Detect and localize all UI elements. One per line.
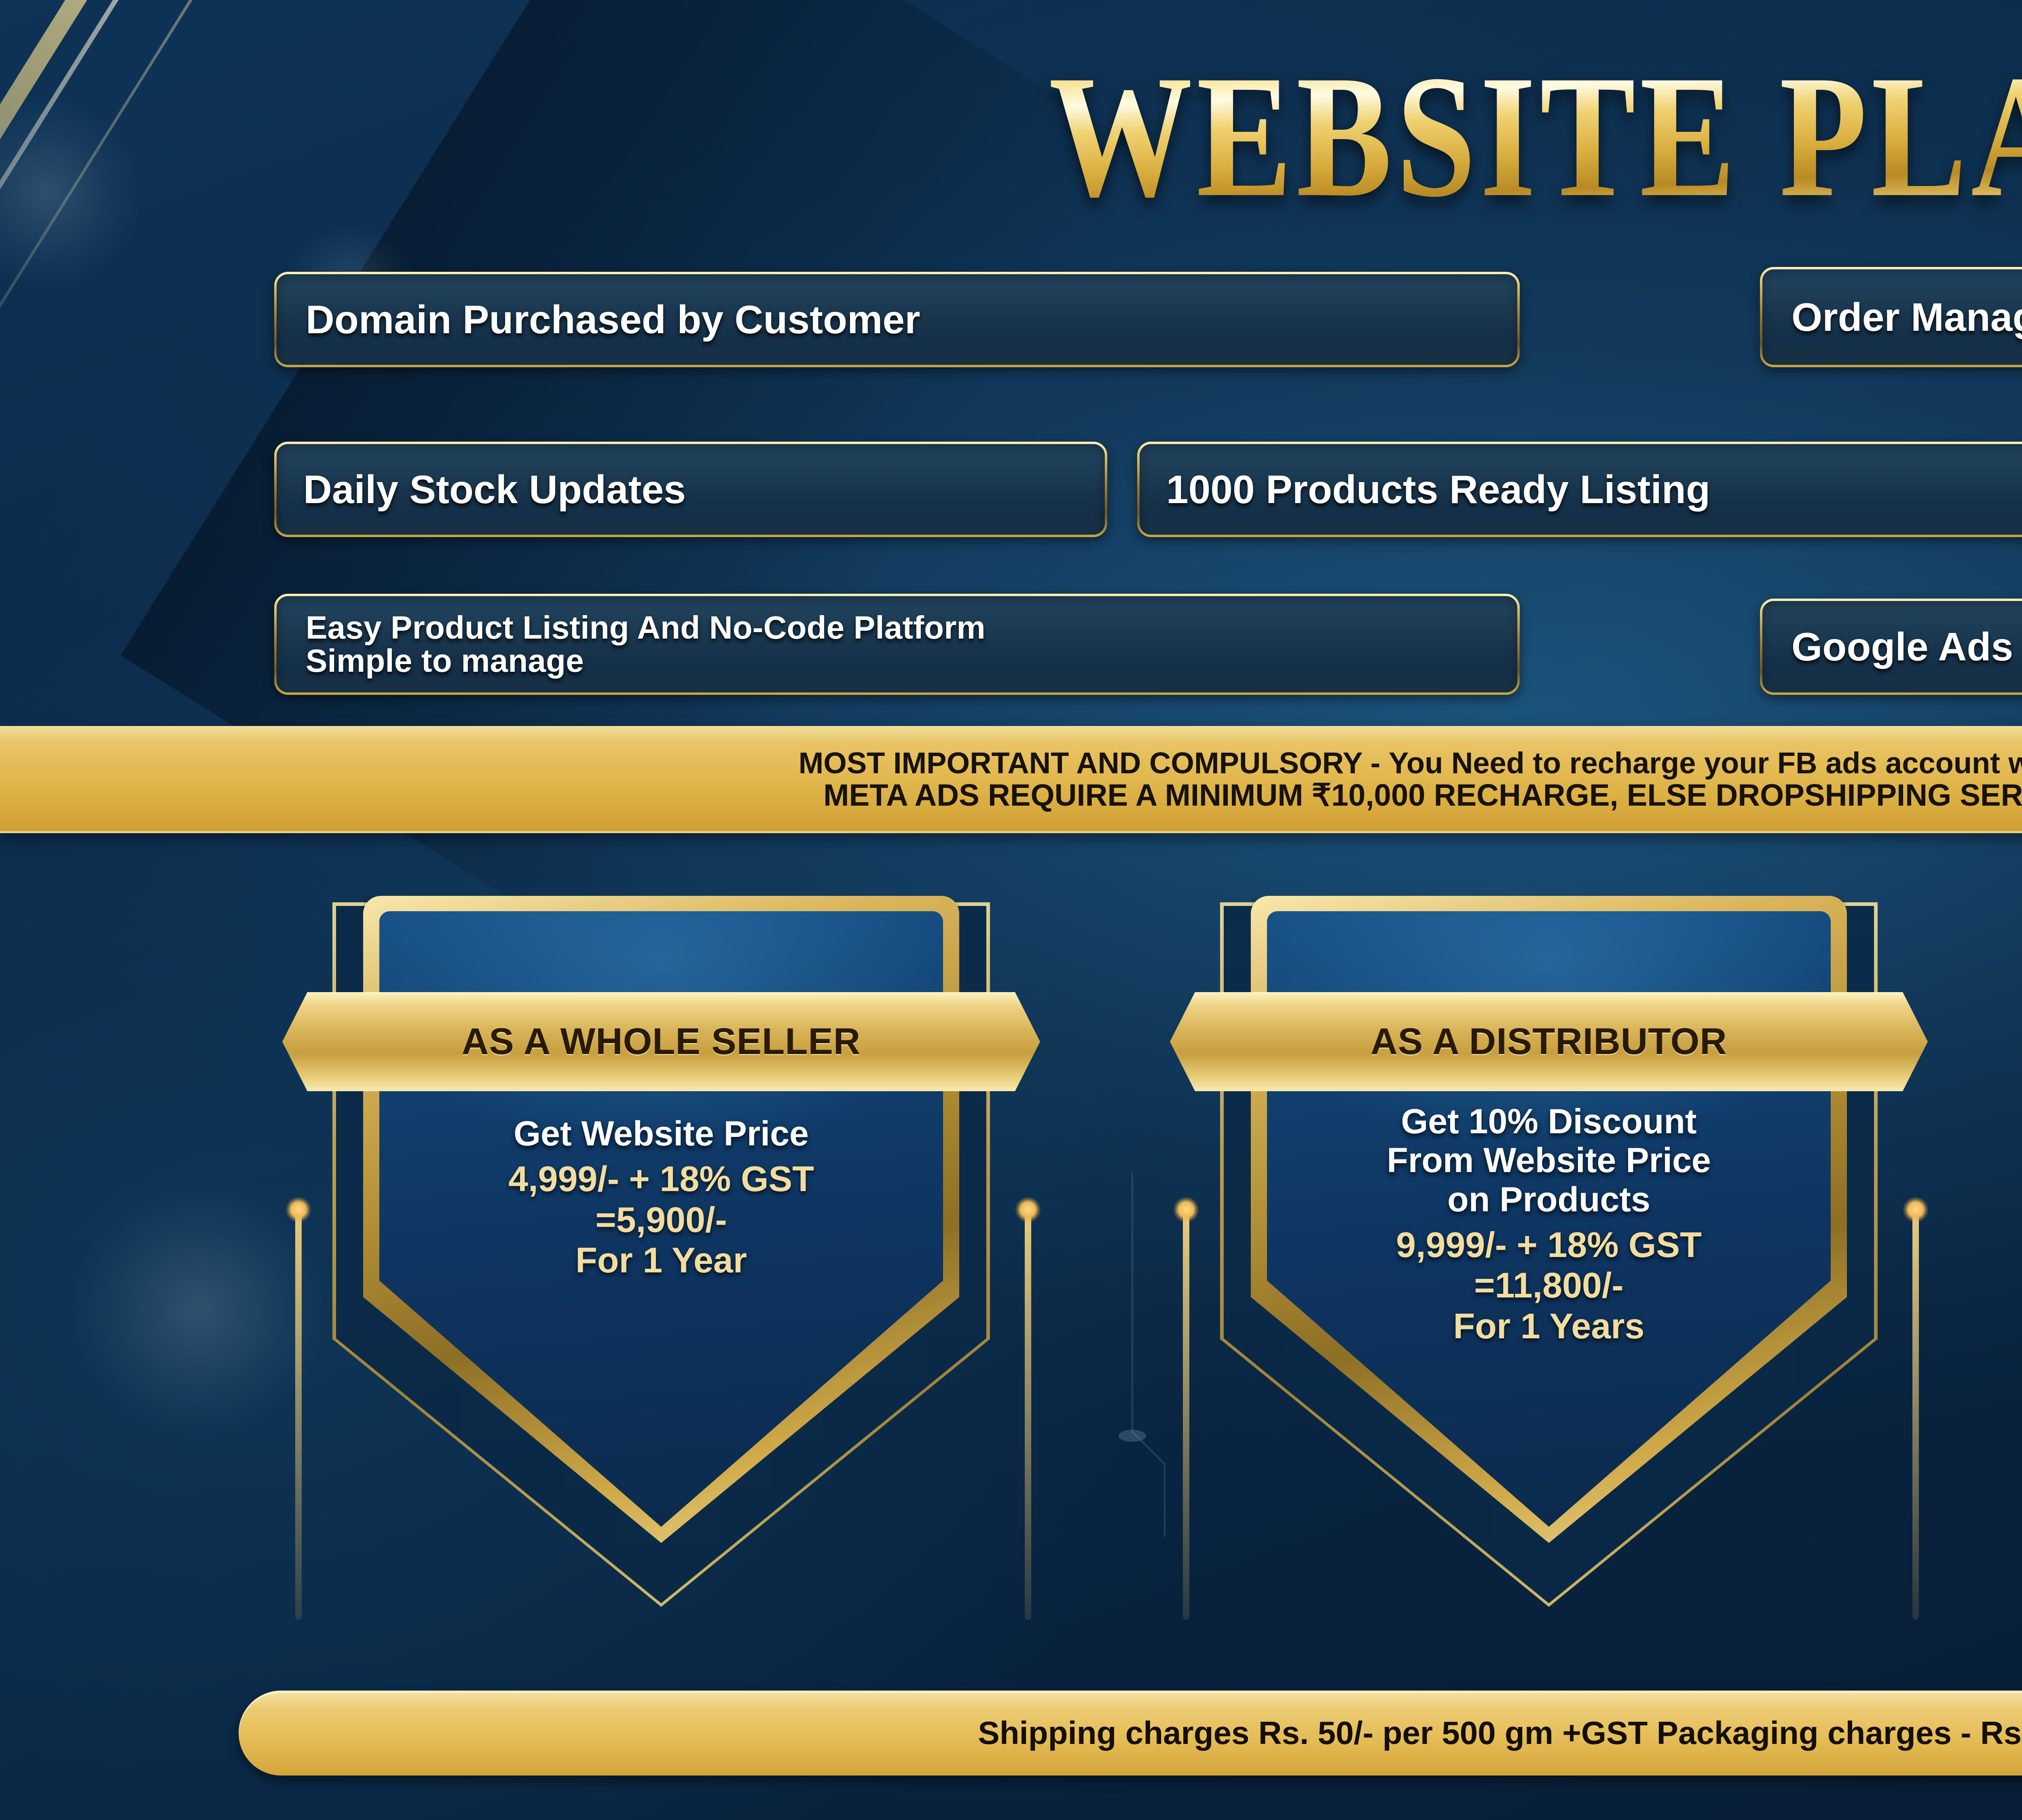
plan-content: Get Website Price 4,999/- + 18% GST =5,9… bbox=[380, 1114, 942, 1280]
plan-price-line-3: For 1 Years bbox=[1268, 1306, 1830, 1346]
feature-pill-google-ads-meta-pixel[interactable]: Google Ads & Meta Pixel Integration bbox=[1760, 599, 2022, 695]
plan-content: Get 10% Discount From Website Price on P… bbox=[1268, 1102, 1830, 1346]
poster-canvas: WEBSITE PLAN Domain Purchased by Custome… bbox=[0, 0, 2022, 1820]
page-title: WEBSITE PLAN bbox=[0, 49, 2022, 224]
plan-price-line-2: =11,800/- bbox=[1268, 1265, 1830, 1306]
feature-label: Domain Purchased by Customer bbox=[306, 297, 920, 343]
plan-price-line-1: 9,999/- + 18% GST bbox=[1268, 1225, 1830, 1265]
plan-ribbon-label: AS A DISTRIBUTOR bbox=[1371, 1020, 1727, 1063]
glow-dot-right bbox=[1912, 1207, 1919, 1620]
feature-label: Order Management Panel bbox=[1791, 294, 2022, 340]
notice-bold-prefix: MOST IMPORTANT AND COMPULSORY - bbox=[799, 746, 1389, 780]
plan-price-line-3: For 1 Year bbox=[380, 1240, 942, 1280]
glow-dot-left bbox=[295, 1207, 302, 1620]
glow-dot-right bbox=[1025, 1207, 1031, 1620]
plan-ribbon-label: AS A WHOLE SELLER bbox=[462, 1020, 861, 1063]
plan-price-line-2: =5,900/- bbox=[380, 1200, 942, 1240]
plan-card-distributor[interactable]: AS A DISTRIBUTOR Get 10% Discount From W… bbox=[1207, 896, 1891, 1608]
compulsory-notice-banner: MOST IMPORTANT AND COMPULSORY - You Need… bbox=[0, 726, 2022, 833]
bokeh-light-3 bbox=[73, 1185, 324, 1436]
glow-dot-left bbox=[1183, 1207, 1189, 1620]
feature-pill-domain-purchased[interactable]: Domain Purchased by Customer bbox=[274, 272, 1520, 367]
feature-label-line2: Simple to manage bbox=[306, 644, 986, 677]
plan-heading: Get Website Price bbox=[380, 1114, 942, 1153]
notice-rest: You Need to recharge your FB ads account… bbox=[1389, 746, 2022, 780]
shipping-charges-banner: Shipping charges Rs. 50/- per 500 gm +GS… bbox=[239, 1691, 2022, 1776]
shipping-charges-label: Shipping charges Rs. 50/- per 500 gm +GS… bbox=[978, 1714, 2022, 1752]
feature-pill-1000-products[interactable]: 1000 Products Ready Listing bbox=[1137, 442, 2022, 537]
plan-heading: Get 10% Discount From Website Price on P… bbox=[1268, 1102, 1830, 1219]
feature-label: Google Ads & Meta Pixel Integration bbox=[1791, 624, 2022, 670]
feature-pill-daily-stock-updates[interactable]: Daily Stock Updates bbox=[274, 442, 1107, 537]
feature-pill-easy-product-listing[interactable]: Easy Product Listing And No-Code Platfor… bbox=[274, 594, 1520, 695]
plan-ribbon: AS A DISTRIBUTOR bbox=[1170, 992, 1928, 1091]
notice-line-1: MOST IMPORTANT AND COMPULSORY - You Need… bbox=[799, 747, 2022, 779]
feature-label: 1000 Products Ready Listing bbox=[1166, 467, 1710, 512]
feature-pill-order-management[interactable]: Order Management Panel No Monthly Hostin… bbox=[1760, 267, 2022, 367]
feature-label-line1: Easy Product Listing And No-Code Platfor… bbox=[306, 611, 986, 644]
plan-card-whole-seller[interactable]: AS A WHOLE SELLER Get Website Price 4,99… bbox=[319, 896, 1003, 1608]
feature-label: Daily Stock Updates bbox=[303, 467, 686, 512]
notice-line-2: META ADS REQUIRE A MINIMUM ₹10,000 RECHA… bbox=[823, 779, 2022, 812]
plan-ribbon: AS A WHOLE SELLER bbox=[282, 992, 1040, 1091]
plan-price-line-1: 4,999/- + 18% GST bbox=[380, 1159, 942, 1199]
feature-label-block: Easy Product Listing And No-Code Platfor… bbox=[306, 611, 986, 677]
